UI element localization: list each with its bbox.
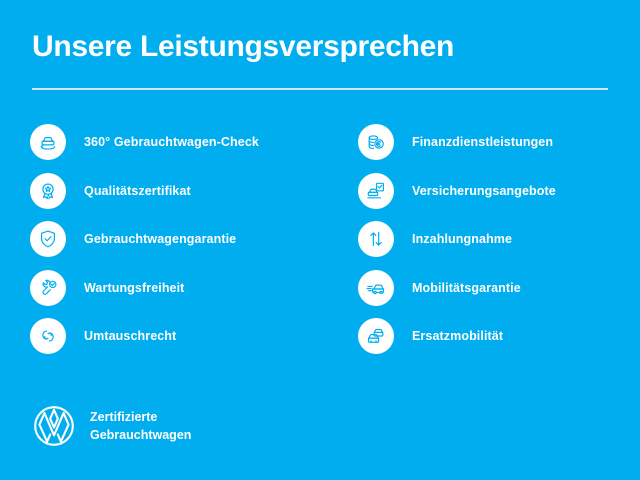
vw-logo-icon [32,404,76,448]
benefit-label: Gebrauchtwagengarantie [84,232,236,246]
promise-panel: Unsere Leistungsversprechen 360° [0,0,640,480]
benefit-label: 360° Gebrauchtwagen-Check [84,135,259,149]
header-divider [32,88,608,90]
benefit-label: Inzahlungnahme [412,232,512,246]
two-cars-icon [358,318,394,354]
benefit-item: Versicherungsangebote [358,167,640,216]
benefit-item: Mobilitätsgarantie [358,264,640,313]
benefit-item: Wartungsfreiheit [30,264,320,313]
benefit-label: Wartungsfreiheit [84,281,184,295]
benefit-item: Gebrauchtwagengarantie [30,215,320,264]
coins-euro-icon [358,124,394,160]
benefit-item: Inzahlungnahme [358,215,640,264]
footer-text: Zertifizierte Gebrauchtwagen [90,408,191,444]
benefits-right-column: Finanzdienstleistungen Versicheru [320,118,640,361]
header: Unsere Leistungsversprechen [32,30,608,63]
car-speed-icon [358,270,394,306]
benefit-label: Versicherungsangebote [412,184,556,198]
wrench-check-icon [30,270,66,306]
footer-brand: Zertifizierte Gebrauchtwagen [32,404,191,448]
benefits-columns: 360° Gebrauchtwagen-Check Qualitätszerti… [0,118,640,361]
shield-check-icon [30,221,66,257]
up-down-arrows-icon [358,221,394,257]
page-title: Unsere Leistungsversprechen [32,30,608,63]
exchange-arrows-icon [30,318,66,354]
footer-line-2: Gebrauchtwagen [90,426,191,444]
benefits-left-column: 360° Gebrauchtwagen-Check Qualitätszerti… [0,118,320,361]
award-rosette-icon [30,173,66,209]
car-document-icon [358,173,394,209]
benefit-item: Umtauschrecht [30,312,320,361]
benefit-item: Qualitätszertifikat [30,167,320,216]
benefit-item: Finanzdienstleistungen [358,118,640,167]
benefit-label: Ersatzmobilität [412,329,503,343]
benefit-label: Finanzdienstleistungen [412,135,553,149]
benefit-label: Umtauschrecht [84,329,176,343]
benefit-item: 360° Gebrauchtwagen-Check [30,118,320,167]
benefit-label: Mobilitätsgarantie [412,281,521,295]
benefit-item: Ersatzmobilität [358,312,640,361]
car-360-check-icon [30,124,66,160]
benefit-label: Qualitätszertifikat [84,184,191,198]
footer-line-1: Zertifizierte [90,408,191,426]
